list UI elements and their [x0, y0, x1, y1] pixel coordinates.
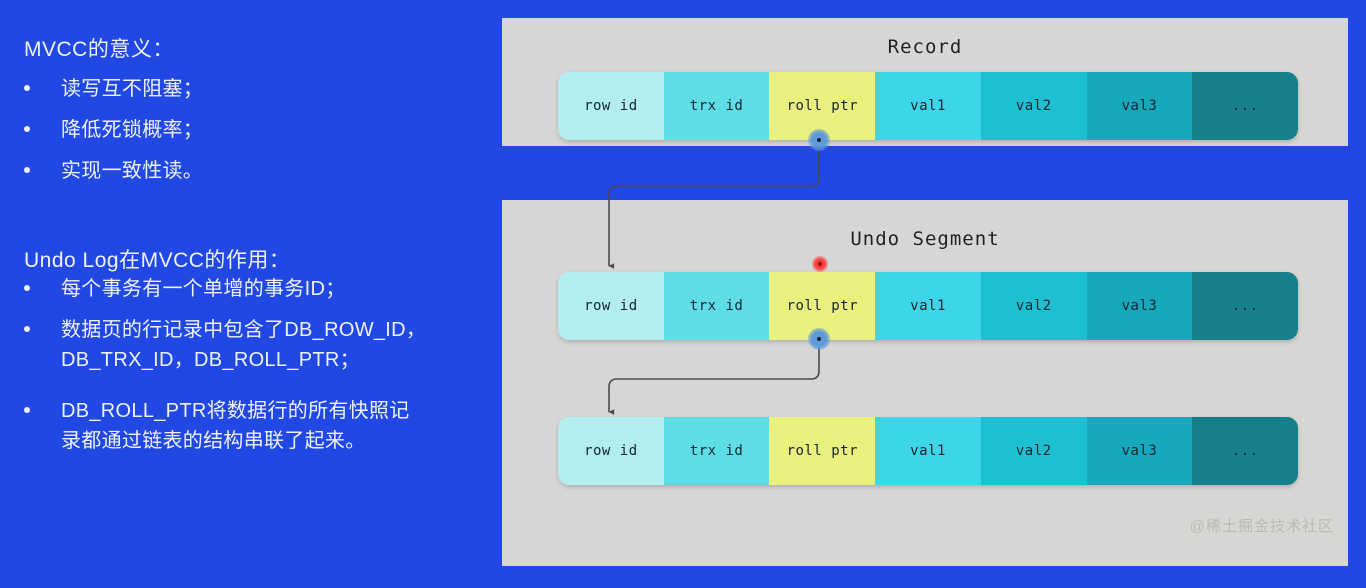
- record-row: row id trx id roll ptr val1 val2 val3 ..…: [558, 72, 1298, 140]
- cell-val3: val3: [1087, 72, 1193, 140]
- cell-trx-id: trx id: [664, 417, 770, 485]
- cell-val2: val2: [981, 417, 1087, 485]
- cell-row-id: row id: [558, 72, 664, 140]
- cell-val2: val2: [981, 72, 1087, 140]
- cell-row-id: row id: [558, 417, 664, 485]
- cell-row-id: row id: [558, 272, 664, 340]
- cell-val3: val3: [1087, 417, 1193, 485]
- cell-val1: val1: [875, 72, 981, 140]
- cell-ellipsis: ...: [1192, 417, 1298, 485]
- cell-val2: val2: [981, 272, 1087, 340]
- cell-val3: val3: [1087, 272, 1193, 340]
- cell-ellipsis: ...: [1192, 272, 1298, 340]
- watermark: @稀土掘金技术社区: [1190, 515, 1334, 536]
- cell-ellipsis: ...: [1192, 72, 1298, 140]
- diagram-area: Record row id trx id roll ptr val1 val2 …: [0, 0, 1366, 588]
- undo-row1-head-node-icon: [812, 256, 828, 272]
- undo-segment-panel-title: Undo Segment: [502, 228, 1348, 250]
- cell-roll-ptr: roll ptr: [769, 417, 875, 485]
- record-rollptr-node-icon: [808, 129, 830, 151]
- cell-trx-id: trx id: [664, 72, 770, 140]
- cell-val1: val1: [875, 272, 981, 340]
- undo-row-2: row id trx id roll ptr val1 val2 val3 ..…: [558, 417, 1298, 485]
- undo-row-1: row id trx id roll ptr val1 val2 val3 ..…: [558, 272, 1298, 340]
- cell-trx-id: trx id: [664, 272, 770, 340]
- record-panel-title: Record: [502, 36, 1348, 58]
- undo-segment-panel: Undo Segment row id trx id roll ptr val1…: [502, 200, 1348, 566]
- record-panel: Record row id trx id roll ptr val1 val2 …: [502, 18, 1348, 146]
- cell-val1: val1: [875, 417, 981, 485]
- undo-row1-rollptr-node-icon: [808, 328, 830, 350]
